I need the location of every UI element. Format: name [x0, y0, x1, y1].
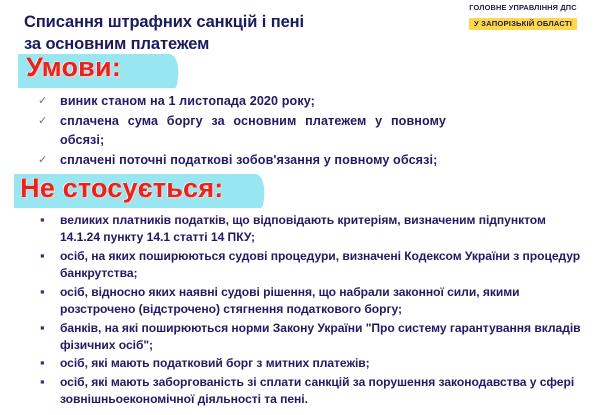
checkmark-icon: ✓	[38, 113, 47, 130]
page-title: Списання штрафних санкцій і пені за осно…	[24, 12, 454, 56]
bullet-dot-icon: ▪	[40, 211, 45, 229]
list-item: ✓ виник станом на 1 листопада 2020 року;	[38, 92, 558, 111]
list-item-text: осіб, на яких поширюються судові процеду…	[60, 248, 585, 282]
list-item-text: сплачені поточні податкові зобов'язання …	[60, 151, 558, 170]
page-title-line-1: Списання штрафних санкцій і пені	[24, 12, 454, 34]
agency-badge: ГОЛОВНЕ УПРАВЛІННЯ ДПС У ЗАПОРІЗЬКІЙ ОБЛ…	[452, 4, 594, 31]
conditions-heading: Умови:	[26, 54, 121, 81]
list-item-text: осіб, які мають заборгованість зі сплати…	[60, 374, 585, 408]
agency-name-line1: ГОЛОВНЕ УПРАВЛІННЯ ДПС	[452, 4, 594, 13]
list-item: ▪ осіб, на яких поширюються судові проце…	[38, 248, 586, 282]
list-item-text: банків, на які поширюються норми Закону …	[60, 320, 585, 354]
conditions-list: ✓ виник станом на 1 листопада 2020 року;…	[38, 92, 558, 171]
list-item-text: осіб, відносно яких наявні судові рішенн…	[60, 284, 585, 318]
list-item: ✓ сплачена сума боргу за основним платеж…	[38, 112, 558, 150]
list-item: ✓ сплачені поточні податкові зобов'язанн…	[38, 151, 558, 170]
checkmark-icon: ✓	[38, 152, 47, 169]
list-item-text: сплачена сума боргу за основним платежем…	[60, 112, 446, 150]
bullet-dot-icon: ▪	[40, 319, 45, 337]
list-item: ▪ осіб, які мають заборгованість зі спла…	[38, 374, 586, 408]
list-item-text: осіб, які мають податковий борг з митних…	[60, 355, 585, 372]
bullet-dot-icon: ▪	[40, 373, 45, 391]
exclusions-list: ▪ великих платників податків, що відпові…	[38, 212, 586, 410]
list-item: ▪ осіб, відносно яких наявні судові ріше…	[38, 284, 586, 318]
bullet-dot-icon: ▪	[40, 247, 45, 265]
list-item-text: великих платників податків, що відповіда…	[60, 212, 585, 246]
checkmark-icon: ✓	[38, 93, 47, 110]
list-item: ▪ великих платників податків, що відпові…	[38, 212, 586, 246]
agency-region-highlight: У ЗАПОРІЗЬКІЙ ОБЛАСТІ	[469, 18, 577, 30]
bullet-dot-icon: ▪	[40, 354, 45, 372]
list-item: ▪ осіб, які мають податковий борг з митн…	[38, 355, 586, 372]
exclusions-heading: Не стосується:	[20, 175, 223, 202]
list-item: ▪ банків, на які поширюються норми Закон…	[38, 320, 586, 354]
bullet-dot-icon: ▪	[40, 283, 45, 301]
list-item-text: виник станом на 1 листопада 2020 року;	[60, 92, 558, 111]
